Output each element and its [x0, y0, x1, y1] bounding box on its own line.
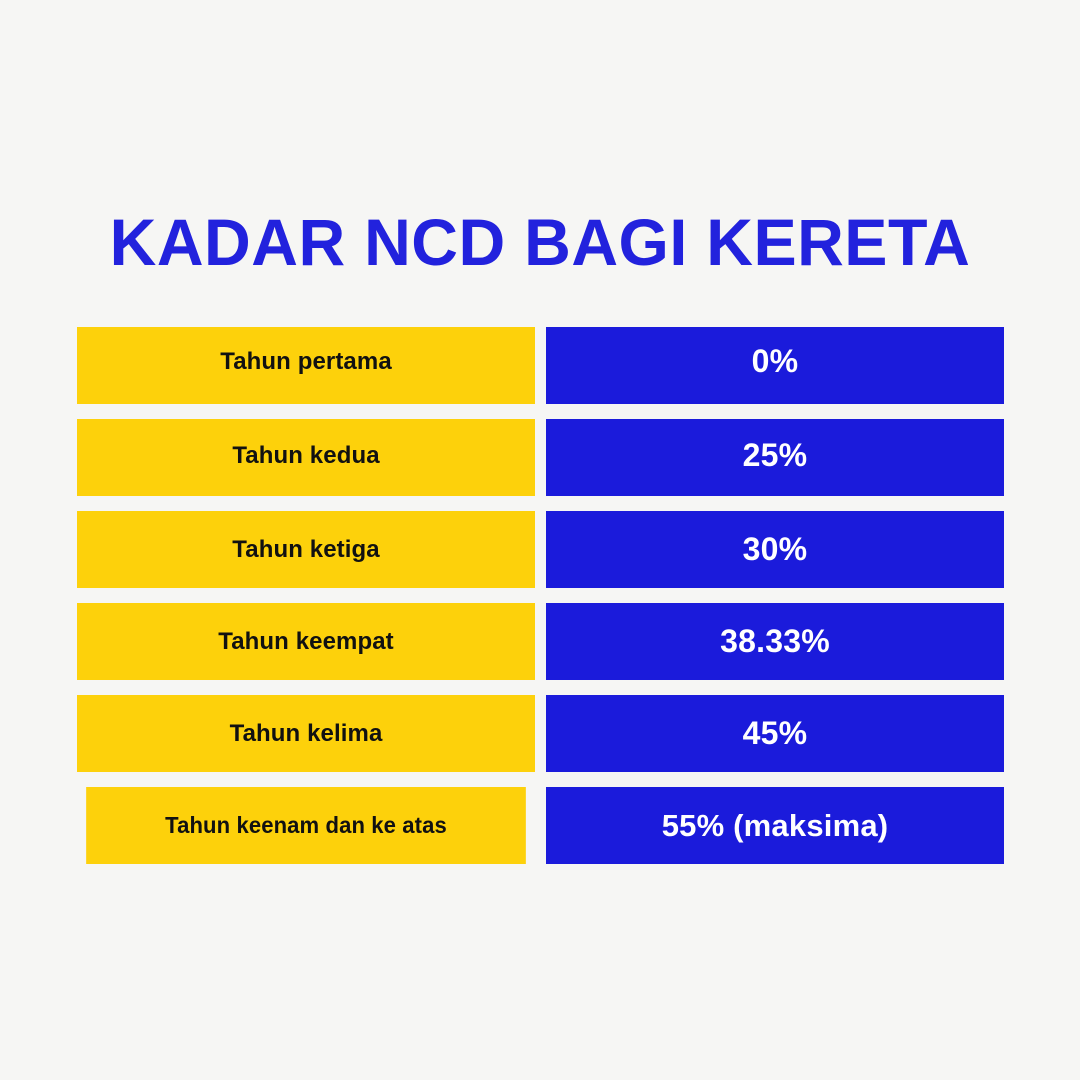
- table-row: Tahun keempat 38.33%: [77, 603, 1004, 680]
- ncd-rate-text: 30%: [743, 531, 808, 568]
- ncd-rate-text: 55% (maksima): [662, 808, 889, 844]
- year-label-text: Tahun ketiga: [232, 536, 379, 564]
- year-label-text: Tahun pertama: [220, 348, 392, 376]
- ncd-rate-cell: 38.33%: [546, 603, 1004, 680]
- ncd-rate-cell: 0%: [546, 327, 1004, 404]
- ncd-rate-cell: 30%: [546, 511, 1004, 588]
- ncd-rate-cell: 25%: [546, 419, 1004, 496]
- year-label-cell: Tahun kelima: [77, 695, 535, 772]
- table-row: Tahun kedua 25%: [77, 419, 1004, 496]
- page-title: KADAR NCD BAGI KERETA: [11, 206, 1069, 278]
- infographic-canvas: KADAR NCD BAGI KERETA Tahun pertama 0% T…: [0, 0, 1080, 1080]
- ncd-rate-text: 45%: [743, 715, 808, 752]
- table-row: Tahun kelima 45%: [77, 695, 1004, 772]
- year-label-text: Tahun keenam dan ke atas: [165, 812, 447, 839]
- ncd-rate-text: 25%: [743, 437, 808, 474]
- year-label-cell: Tahun ketiga: [77, 511, 535, 588]
- year-label-cell: Tahun keempat: [77, 603, 535, 680]
- table-row: Tahun ketiga 30%: [77, 511, 1004, 588]
- year-label-text: Tahun kedua: [232, 442, 379, 470]
- year-label-cell: Tahun kedua: [77, 419, 535, 496]
- year-label-text: Tahun kelima: [230, 720, 383, 748]
- year-label-text: Tahun keempat: [218, 628, 394, 656]
- ncd-rate-table: Tahun pertama 0% Tahun kedua 25% Tahun k…: [77, 327, 1004, 864]
- year-label-cell: Tahun keenam dan ke atas: [86, 787, 526, 864]
- year-label-cell: Tahun pertama: [77, 327, 535, 404]
- ncd-rate-text: 0%: [752, 343, 799, 380]
- ncd-rate-cell: 45%: [546, 695, 1004, 772]
- table-row: Tahun pertama 0%: [77, 327, 1004, 404]
- ncd-rate-text: 38.33%: [720, 623, 830, 660]
- table-row: Tahun keenam dan ke atas 55% (maksima): [77, 787, 1004, 864]
- ncd-rate-cell: 55% (maksima): [546, 787, 1004, 864]
